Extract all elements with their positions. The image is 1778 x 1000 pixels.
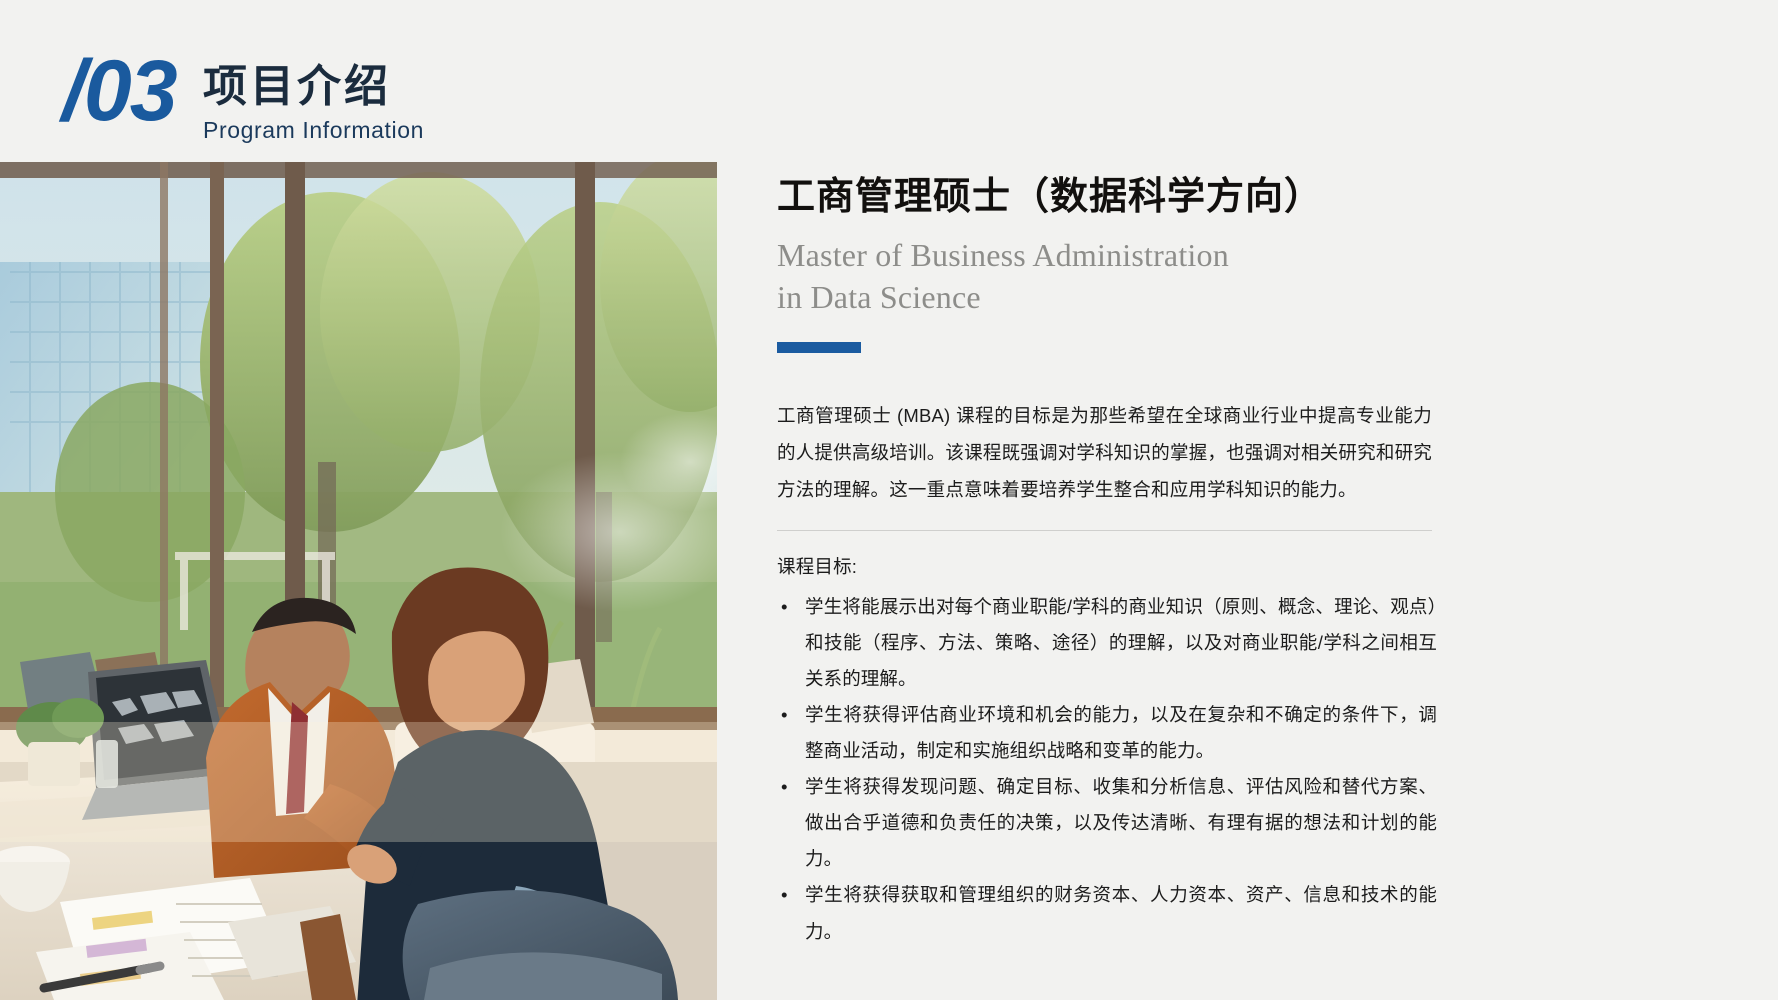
list-item-text: 学生将获得发现问题、确定目标、收集和分析信息、评估风险和替代方案、做出合乎道德和… [805,776,1437,869]
bullet-icon: • [781,769,788,805]
section-divider [777,530,1432,531]
header-title-en: Program Information [203,117,424,144]
list-item: • 学生将获得评估商业环境和机会的能力，以及在复杂和不确定的条件下，调整商业活动… [777,697,1437,769]
program-title-en: Master of Business Administration in Dat… [777,234,1437,318]
photo-illustration [0,162,717,1000]
list-item-text: 学生将获得评估商业环境和机会的能力，以及在复杂和不确定的条件下，调整商业活动，制… [805,704,1437,761]
program-intro-paragraph: 工商管理硕士 (MBA) 课程的目标是为那些希望在全球商业行业中提高专业能力的人… [777,397,1432,508]
slide: /03 项目介绍 Program Information [0,0,1778,1000]
list-item-text: 学生将获得获取和管理组织的财务资本、人力资本、资产、信息和技术的能力。 [805,884,1437,941]
accent-bar [777,342,861,353]
list-item: • 学生将能展示出对每个商业职能/学科的商业知识（原则、概念、理论、观点）和技能… [777,589,1437,697]
program-title-cn: 工商管理硕士（数据科学方向） [777,174,1437,222]
bullet-icon: • [781,697,788,733]
bullet-icon: • [781,589,788,625]
goals-list: • 学生将能展示出对每个商业职能/学科的商业知识（原则、概念、理论、观点）和技能… [777,589,1437,950]
header-title-cn: 项目介绍 [203,62,424,113]
program-photo [0,162,717,1000]
program-title-en-line1: Master of Business Administration [777,234,1437,276]
header-title-group: 项目介绍 Program Information [203,62,424,144]
list-item: • 学生将获得发现问题、确定目标、收集和分析信息、评估风险和替代方案、做出合乎道… [777,769,1437,877]
list-item-text: 学生将能展示出对每个商业职能/学科的商业知识（原则、概念、理论、观点）和技能（程… [805,596,1437,689]
program-content: 工商管理硕士（数据科学方向） Master of Business Admini… [777,174,1437,950]
section-number: /03 [62,48,176,134]
list-item: • 学生将获得获取和管理组织的财务资本、人力资本、资产、信息和技术的能力。 [777,877,1437,949]
goals-label: 课程目标: [777,553,1437,579]
program-title-en-line2: in Data Science [777,276,1437,318]
slide-header: /03 项目介绍 Program Information [0,0,1778,162]
bullet-icon: • [781,877,788,913]
